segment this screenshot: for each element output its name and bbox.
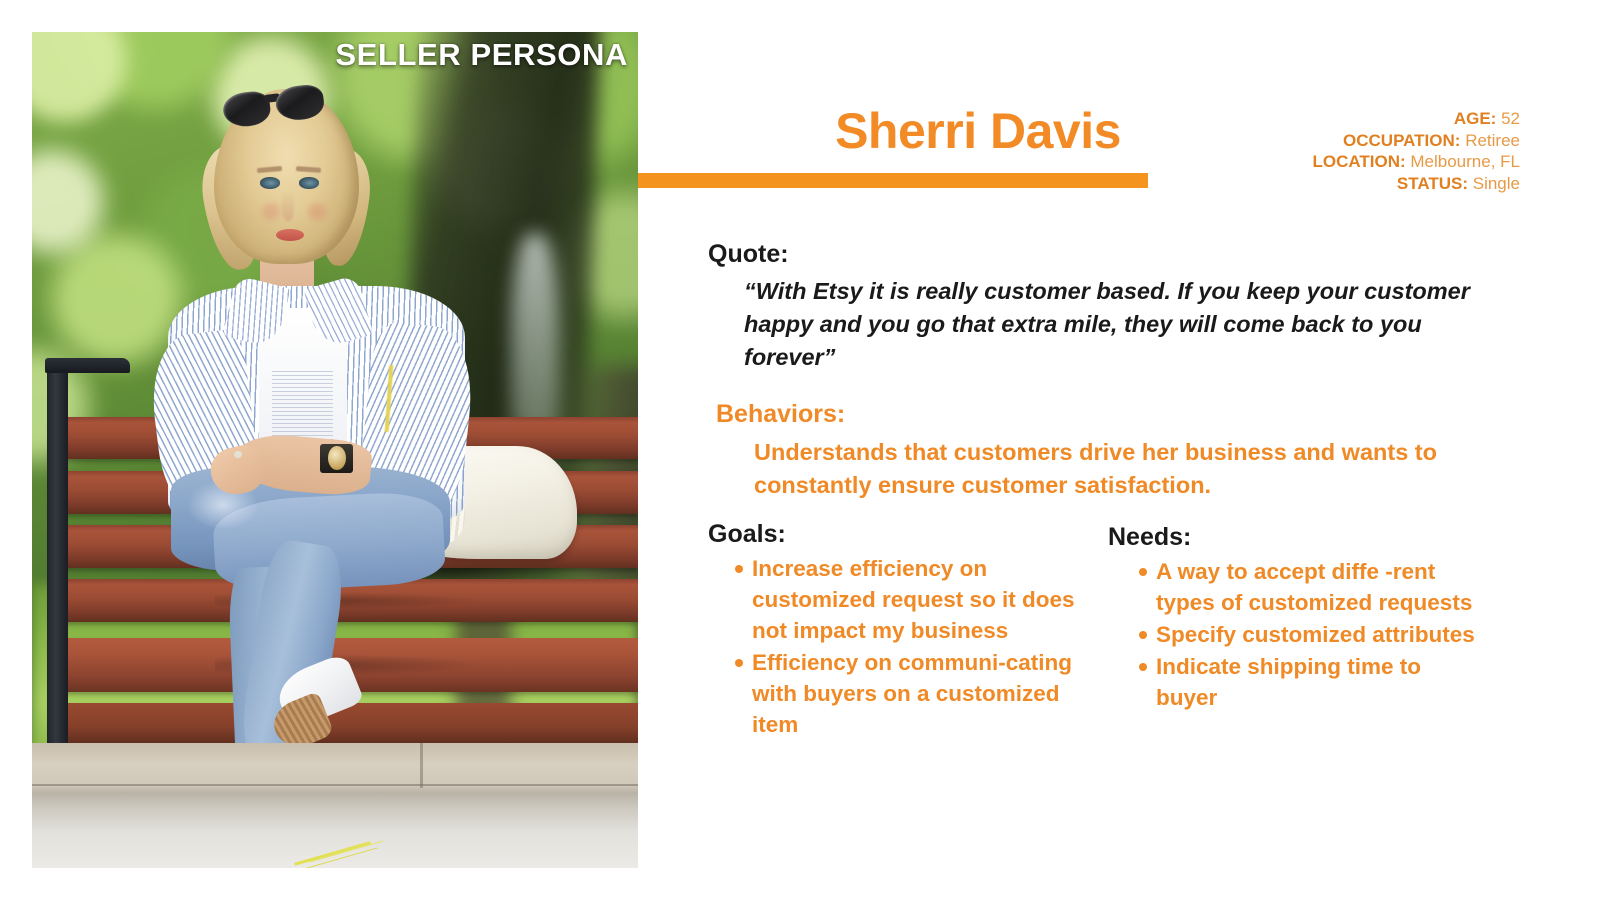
attribute-value: Melbourne, FL [1410, 152, 1520, 171]
attribute-key: STATUS: [1397, 174, 1468, 193]
bullet-dot [735, 565, 743, 573]
kerb-pavement [32, 743, 638, 868]
eye-right [299, 177, 320, 188]
quote-section: Quote: “With Etsy it is really customer … [708, 240, 1508, 374]
behaviors-text: Understands that customers drive her bus… [754, 436, 1454, 502]
goals-heading: Goals: [708, 520, 1078, 549]
page-title: Sherri Davis [718, 102, 1238, 160]
cheek-right [308, 203, 326, 220]
list-item-label: A way to accept diffe -rent types of cus… [1156, 559, 1472, 615]
bullet-dot [735, 659, 743, 667]
eye-left [260, 177, 281, 188]
list-item-label: Increase efficiency on customized reques… [752, 556, 1075, 643]
list-item: Increase efficiency on customized reques… [752, 553, 1078, 646]
straw-detail [294, 842, 371, 867]
quote-heading: Quote: [708, 240, 1508, 269]
attribute-value: Retiree [1465, 131, 1520, 150]
list-item: A way to accept diffe -rent types of cus… [1156, 556, 1478, 618]
list-item-label: Efficiency on communi-cating with buyers… [752, 650, 1072, 737]
behaviors-heading: Behaviors: [716, 400, 1496, 429]
attribute-row-occupation: OCCUPATION: Retiree [1312, 130, 1520, 152]
needs-heading: Needs: [1108, 523, 1478, 552]
persona-photo: GOODVIBR [32, 32, 638, 868]
wristwatch [320, 444, 353, 472]
ring [234, 451, 242, 459]
list-item: Efficiency on communi-cating with buyers… [752, 647, 1078, 740]
attribute-row-age: AGE: 52 [1312, 108, 1520, 130]
list-item: Indicate shipping time to buyer [1156, 651, 1478, 713]
list-item: Specify customized attributes [1156, 619, 1478, 650]
attribute-key: AGE: [1454, 109, 1497, 128]
attribute-key: LOCATION: [1312, 152, 1405, 171]
seller-persona-badge: SELLER PERSONA [335, 37, 628, 73]
attribute-key: OCCUPATION: [1343, 131, 1460, 150]
attribute-value: 52 [1501, 109, 1520, 128]
list-item-label: Specify customized attributes [1156, 622, 1475, 647]
attribute-value: Single [1473, 174, 1520, 193]
goals-list: Increase efficiency on customized reques… [708, 553, 1078, 740]
nose [282, 191, 294, 221]
title-underline-bar [638, 173, 1148, 188]
quote-text: “With Etsy it is really customer based. … [744, 275, 1504, 374]
attributes-list: AGE: 52 OCCUPATION: Retiree LOCATION: Me… [1312, 108, 1520, 194]
attribute-row-status: STATUS: Single [1312, 173, 1520, 195]
persona-details-panel: Sherri Davis AGE: 52 OCCUPATION: Retiree… [638, 0, 1600, 900]
goals-section: Goals: Increase efficiency on customized… [708, 520, 1078, 741]
bullet-dot [1139, 568, 1147, 576]
list-item-label: Indicate shipping time to buyer [1156, 654, 1421, 710]
bullet-dot [1139, 663, 1147, 671]
bullet-dot [1139, 631, 1147, 639]
attribute-row-location: LOCATION: Melbourne, FL [1312, 151, 1520, 173]
needs-list: A way to accept diffe -rent types of cus… [1108, 556, 1478, 713]
behaviors-section: Behaviors: Understands that customers dr… [716, 400, 1496, 502]
needs-section: Needs: A way to accept diffe -rent types… [1108, 523, 1478, 714]
